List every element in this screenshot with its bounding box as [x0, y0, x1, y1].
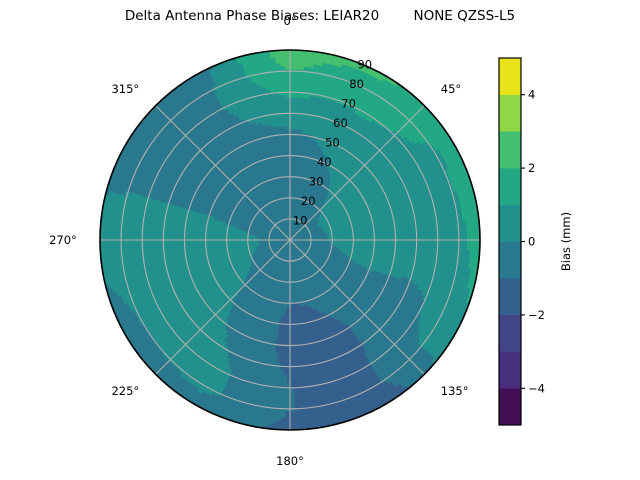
r-tick-10: 10	[293, 214, 308, 228]
r-tick-70: 70	[341, 97, 356, 111]
colorbar-band-4	[499, 242, 521, 279]
theta-tick-135: 135°	[441, 384, 469, 398]
r-tick-20: 20	[301, 194, 316, 208]
colorbar-axis-label: Bias (mm)	[559, 212, 573, 271]
colorbar-band-7	[499, 131, 521, 168]
colorbar-tick-label-1: 2	[528, 161, 535, 175]
theta-tick-315: 315°	[111, 82, 139, 96]
r-tick-40: 40	[317, 155, 332, 169]
theta-tick-180: 180°	[276, 454, 304, 468]
theta-tick-270: 270°	[49, 233, 77, 247]
page-title: Delta Antenna Phase Biases: LEIAR20 NONE…	[0, 8, 640, 24]
polar-grid	[100, 50, 480, 430]
theta-tick-225: 225°	[111, 384, 139, 398]
colorbar-band-9	[499, 58, 521, 95]
colorbar-band-5	[499, 205, 521, 242]
r-tick-60: 60	[333, 116, 348, 130]
r-tick-90: 90	[357, 58, 372, 72]
r-tick-50: 50	[325, 136, 340, 150]
colorbar-tick-label-4: −4	[528, 381, 545, 395]
theta-tick-45: 45°	[441, 82, 461, 96]
colorbar-tick-label-3: −2	[528, 308, 545, 322]
colorbar: 420−2−4Bias (mm)	[499, 58, 573, 425]
r-tick-80: 80	[349, 77, 364, 91]
r-tick-30: 30	[309, 175, 324, 189]
figure-canvas: Delta Antenna Phase Biases: LEIAR20 NONE…	[0, 0, 640, 480]
colorbar-band-0	[499, 388, 521, 425]
colorbar-band-6	[499, 168, 521, 205]
colorbar-band-8	[499, 95, 521, 132]
colorbar-band-1	[499, 352, 521, 389]
colorbar-band-3	[499, 278, 521, 315]
polar-plot: 0°45°90135°180°225°270°315° 102030405060…	[0, 0, 640, 480]
colorbar-tick-label-0: 4	[528, 88, 535, 102]
colorbar-tick-label-2: 0	[528, 235, 535, 249]
colorbar-band-2	[499, 315, 521, 352]
